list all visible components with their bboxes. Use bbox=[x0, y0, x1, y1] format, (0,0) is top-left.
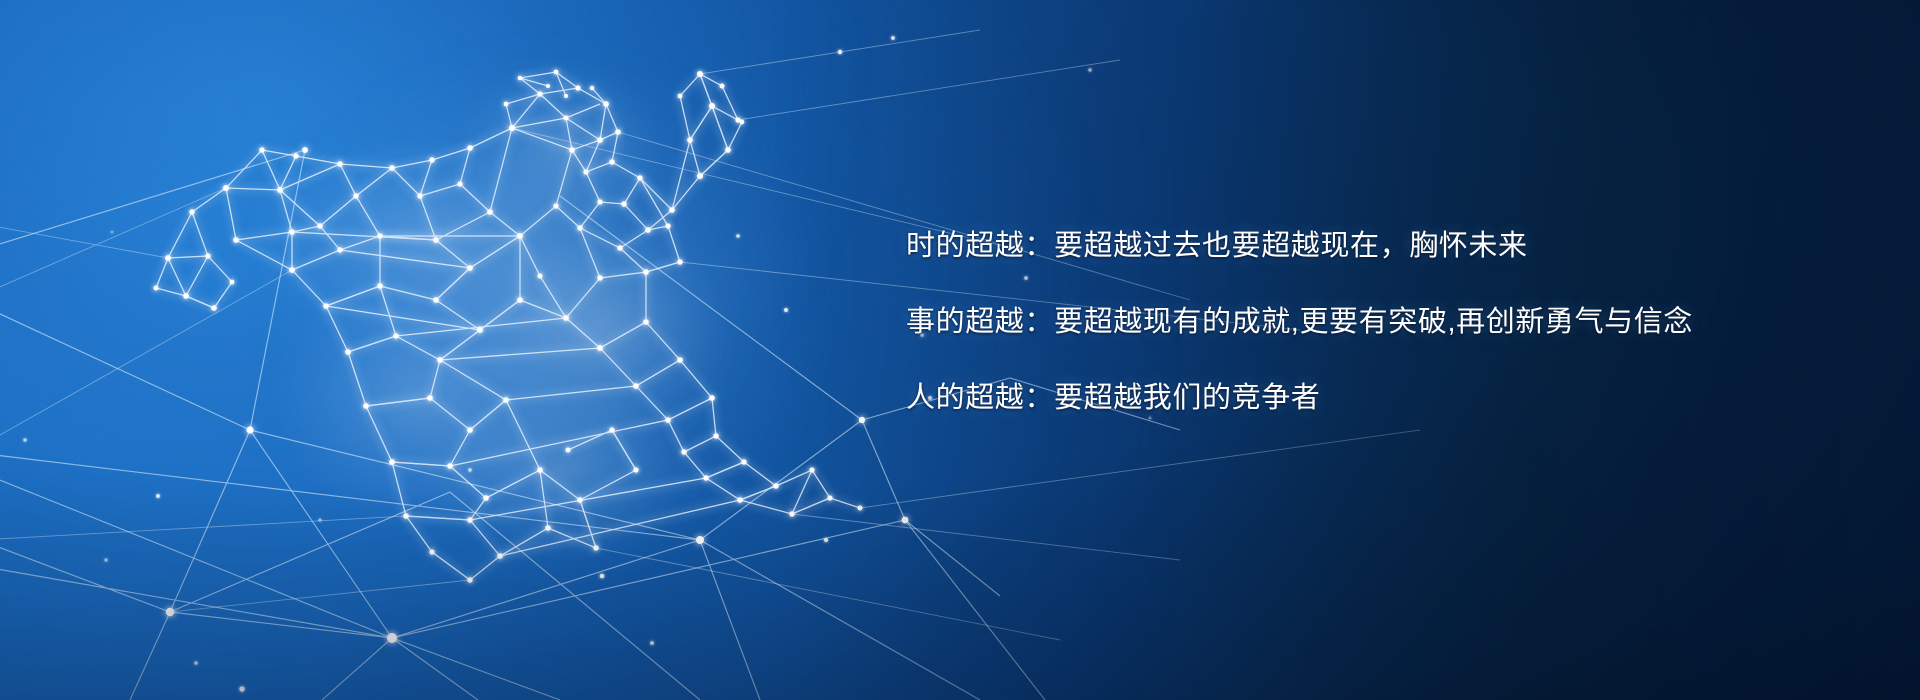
tagline-line-3: 人的超越：要超越我们的竞争者 bbox=[906, 384, 1886, 413]
tagline-block: 时的超越：要超越过去也要超越现在，胸怀未来 事的超越：要超越现有的成就,更要有突… bbox=[906, 232, 1886, 413]
tagline-line-1: 时的超越：要超越过去也要超越现在，胸怀未来 bbox=[906, 232, 1886, 261]
tagline-line-2: 事的超越：要超越现有的成就,更要有突破,再创新勇气与信念 bbox=[906, 308, 1886, 337]
hero-banner: 时的超越：要超越过去也要超越现在，胸怀未来 事的超越：要超越现有的成就,更要有突… bbox=[0, 0, 1920, 700]
